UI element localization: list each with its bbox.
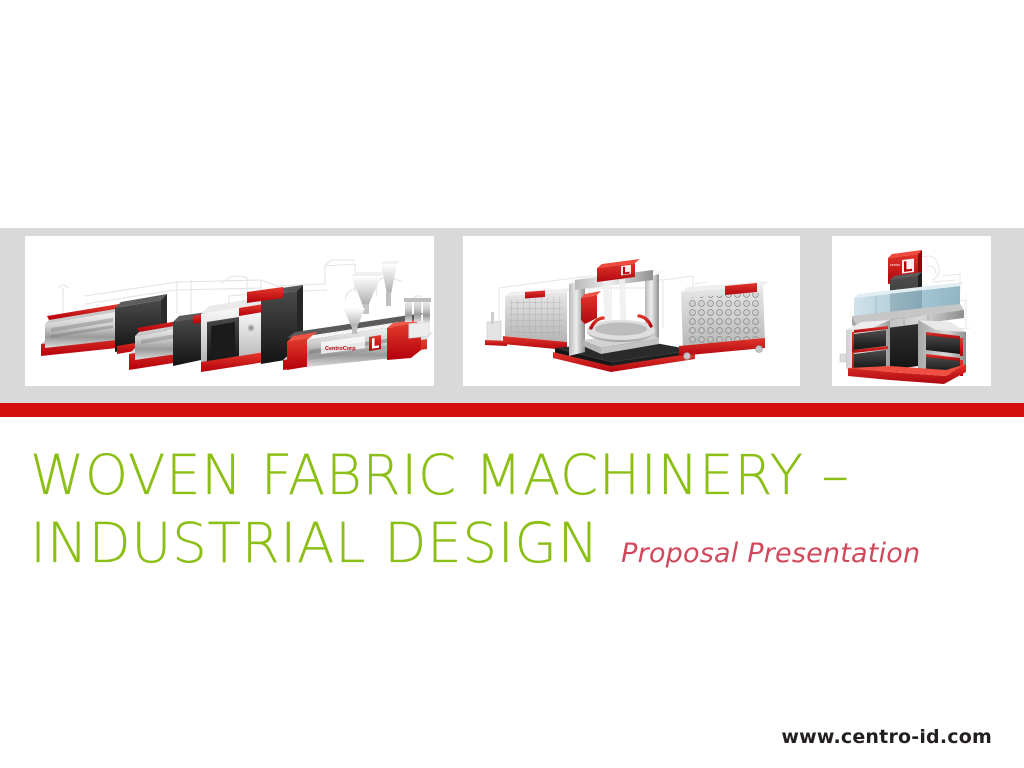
svg-text:centro: centro <box>890 263 900 267</box>
extrusion-line-rendering: CentroCorp <box>25 236 434 386</box>
tower-machine-illustration: centro <box>832 236 991 386</box>
page-title-line-2: INDUSTRIAL DESIGN <box>30 516 599 571</box>
title-second-row: INDUSTRIAL DESIGN Proposal Presentation <box>30 516 990 571</box>
subtitle: Proposal Presentation <box>621 538 920 569</box>
gantry-machine-rendering <box>463 236 800 386</box>
footer-website-url[interactable]: www.centro-id.com <box>781 726 992 748</box>
svg-text:CentroCorp: CentroCorp <box>325 346 356 352</box>
gantry-machine-illustration <box>463 236 800 386</box>
page-title-line-1: WOVEN FABRIC MACHINERY – <box>30 448 990 503</box>
presentation-slide: CentroCorp <box>0 0 1024 768</box>
extrusion-line-illustration: CentroCorp <box>25 236 434 386</box>
tower-machine-rendering: centro <box>832 236 991 386</box>
title-block: WOVEN FABRIC MACHINERY – INDUSTRIAL DESI… <box>30 448 990 571</box>
red-divider-stripe <box>0 403 1024 417</box>
image-band: CentroCorp <box>0 228 1024 403</box>
